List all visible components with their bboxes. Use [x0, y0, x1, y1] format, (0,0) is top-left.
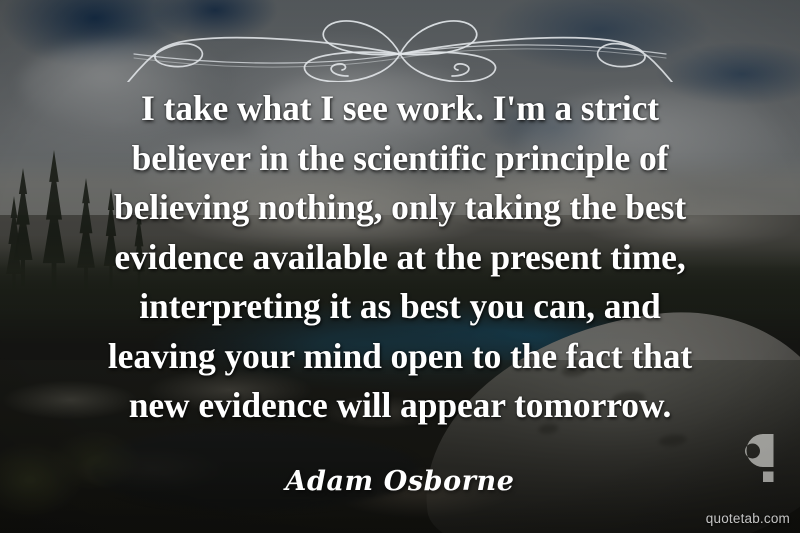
- quote-line: believing nothing, only taking the best: [46, 183, 754, 233]
- quote-line: evidence available at the present time,: [46, 233, 754, 283]
- watermark-site-label: quotetab.com: [706, 511, 790, 526]
- quote-text-block: I take what I see work. I'm a strict bel…: [46, 84, 754, 431]
- author-name: Adam Osborne: [0, 466, 800, 497]
- quote-line: leaving your mind open to the fact that: [46, 332, 754, 382]
- flourish-ornament-icon: [100, 14, 700, 82]
- quote-line: believer in the scientific principle of: [46, 134, 754, 184]
- quote-line: new evidence will appear tomorrow.: [46, 381, 754, 431]
- quote-line: I take what I see work. I'm a strict: [46, 84, 754, 134]
- quote-line: interpreting it as best you can, and: [46, 282, 754, 332]
- quotetab-logo-icon: [730, 430, 786, 486]
- quote-image-card: I take what I see work. I'm a strict bel…: [0, 0, 800, 533]
